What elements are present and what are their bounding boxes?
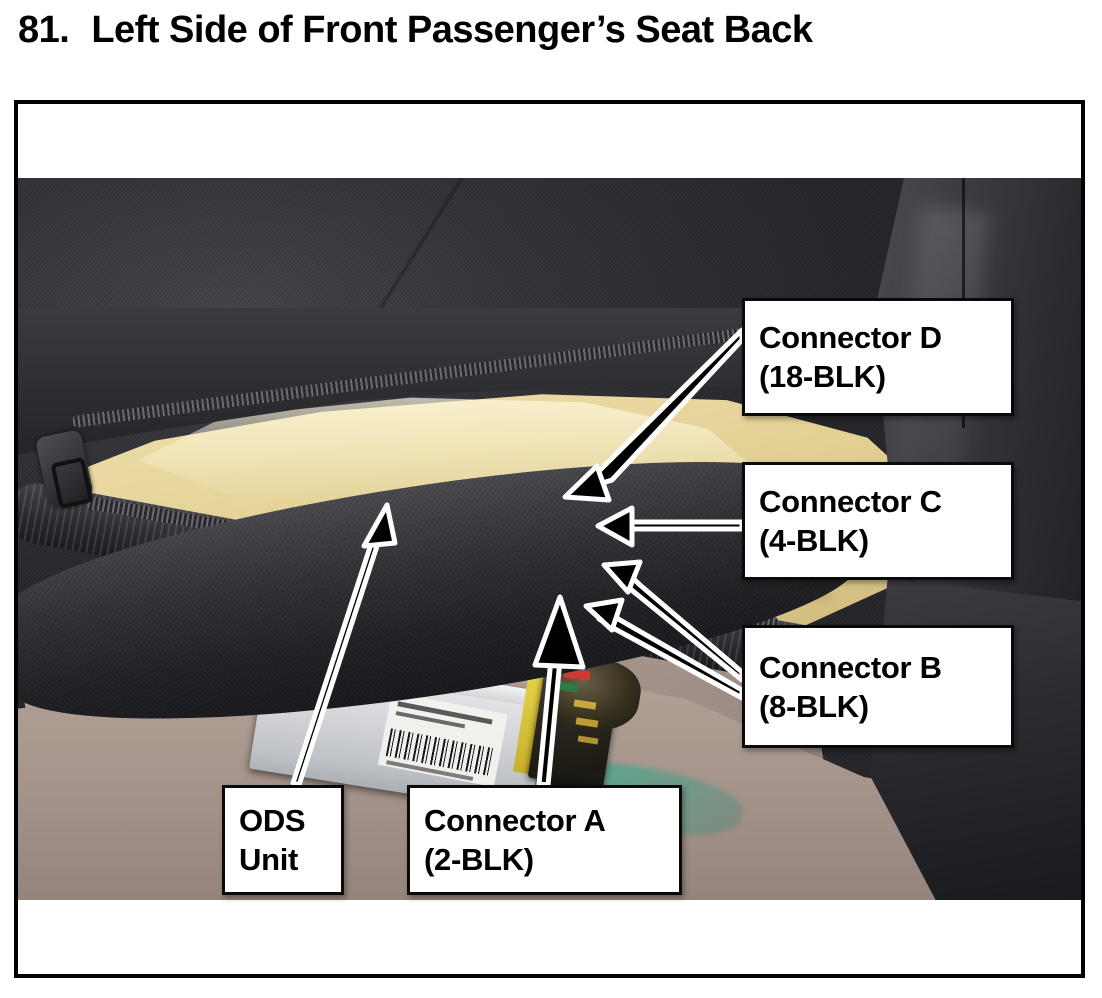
callout-line-1: Connector D — [759, 318, 997, 357]
callout-line-2: (18-BLK) — [759, 357, 997, 396]
callout-line-1: Connector C — [759, 482, 997, 521]
callout-connector-c: Connector C (4-BLK) — [742, 462, 1014, 580]
callout-line-2: (8-BLK) — [759, 687, 997, 726]
callout-line-2: (4-BLK) — [759, 521, 997, 560]
barcode — [386, 728, 493, 775]
callout-connector-d: Connector D (18-BLK) — [742, 298, 1014, 416]
callout-line-1: Connector A — [424, 801, 665, 840]
figure-title-text: Left Side of Front Passenger’s Seat Back — [91, 9, 812, 51]
callout-ods-unit: ODS Unit — [222, 785, 344, 895]
callout-line-1: Connector B — [759, 648, 997, 687]
page-title: 81.Left Side of Front Passenger’s Seat B… — [18, 6, 1088, 58]
callout-line-1: ODS — [239, 801, 327, 840]
callout-line-2: Unit — [239, 840, 327, 879]
callout-line-2: (2-BLK) — [424, 840, 665, 879]
callout-connector-b: Connector B (8-BLK) — [742, 625, 1014, 748]
callout-connector-a: Connector A (2-BLK) — [407, 785, 682, 895]
ods-unit-label — [378, 692, 508, 787]
figure-number: 81. — [18, 9, 69, 51]
figure-page: 81.Left Side of Front Passenger’s Seat B… — [0, 0, 1102, 998]
